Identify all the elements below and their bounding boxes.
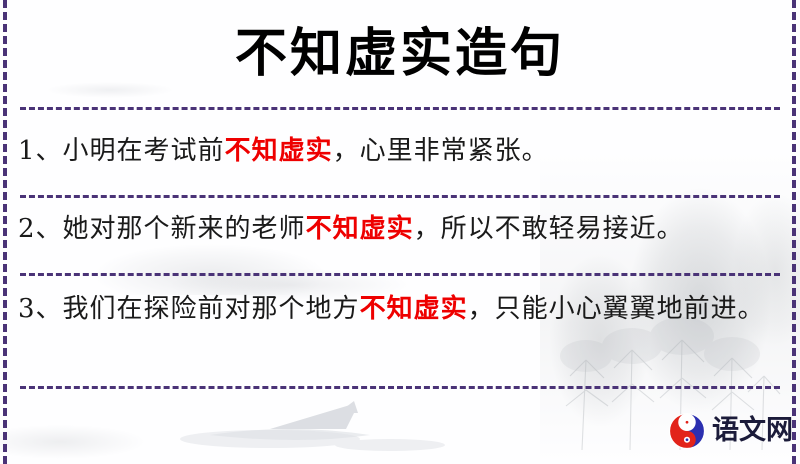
sentence-text-before-3: 我们在探险前对那个地方 <box>63 294 360 324</box>
idiom-keyword-2: 不知虚实 <box>306 214 414 244</box>
separator-line-2 <box>20 195 780 198</box>
wash-bottom-left <box>0 408 200 464</box>
sentence-item-1: 1、小明在考试前不知虚实，心里非常紧张。 <box>18 130 770 172</box>
sentence-item-2: 2、她对那个新来的老师不知虚实，所以不敢轻易接近。 <box>18 208 770 250</box>
separator-line-3 <box>20 273 780 276</box>
separator-line-4 <box>20 386 780 389</box>
sentence-index-1: 1、 <box>18 136 63 166</box>
site-watermark[interactable]: 语文网 <box>668 412 793 450</box>
sentence-index-3: 3、 <box>18 294 63 324</box>
page-title: 不知虚实造句 <box>0 22 800 86</box>
sentence-text-before-1: 小明在考试前 <box>63 136 225 166</box>
yinyang-fish-logo-icon <box>668 412 706 450</box>
wash-boat-icon <box>150 395 450 455</box>
sentence-text-after-2: ，所以不敢轻易接近。 <box>414 214 684 244</box>
sentence-text-before-2: 她对那个新来的老师 <box>63 214 306 244</box>
sentence-text-after-1: ，心里非常紧张。 <box>333 136 549 166</box>
sentence-item-3: 3、我们在探险前对那个地方不知虚实，只能小心翼翼地前进。 <box>18 288 770 330</box>
idiom-keyword-1: 不知虚实 <box>225 136 333 166</box>
worksheet-page: 不知虚实造句 1、小明在考试前不知虚实，心里非常紧张。 2、她对那个新来的老师不… <box>0 0 800 464</box>
separator-line-1 <box>20 107 780 110</box>
site-brand-label: 语文网 <box>712 416 793 446</box>
idiom-keyword-3: 不知虚实 <box>360 294 468 324</box>
sentence-text-after-3: ，只能小心翼翼地前进。 <box>468 294 765 324</box>
sentence-index-2: 2、 <box>18 214 63 244</box>
